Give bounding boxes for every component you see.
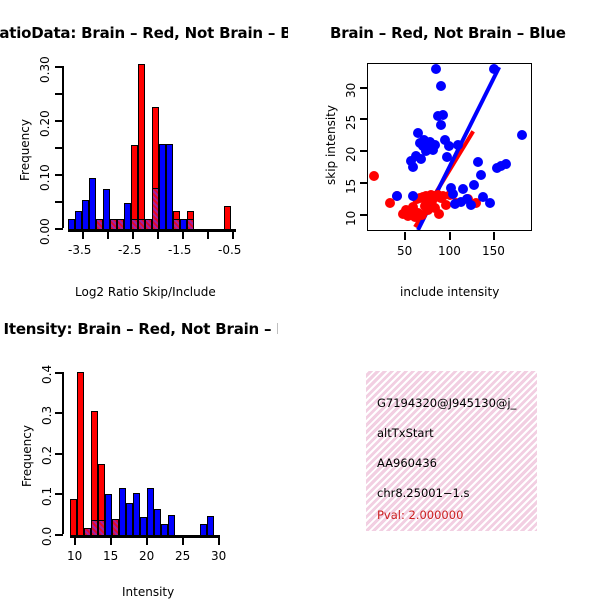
ratio-hist-x-tick--1.0	[207, 231, 209, 239]
info-line-accession: AA960436	[377, 456, 437, 470]
intensity-hist-ytick-label-0.4: 0.4	[40, 365, 54, 384]
ratio-hist-xtick-label--2.5: -2.5	[118, 243, 141, 257]
intensity-bar-purple-3	[98, 520, 105, 536]
intensity-bar-blue-2	[119, 488, 126, 536]
ratio-hist-x-tick--3.0	[107, 231, 109, 239]
intensity-hist-x-tick-25	[182, 537, 184, 545]
scatter-point-blue	[430, 140, 440, 150]
intensity-hist-ytick-label-0.3: 0.3	[40, 406, 54, 425]
ratio-bar-blue-2	[75, 211, 82, 230]
ratio-hist-xtick-label--0.5: -0.5	[218, 243, 241, 257]
intensity-hist-xtick-label-20: 20	[139, 549, 154, 563]
scatter-point-blue	[438, 110, 448, 120]
ratio-bar-blue-5	[103, 189, 110, 230]
ratio-hist-y-tick-0.10	[55, 174, 63, 176]
ratio-bar-purple-8	[152, 188, 159, 230]
intensity-hist-y-tick-0.1	[55, 493, 63, 495]
ratio-bar-red-2	[138, 64, 145, 230]
scatter-point-blue	[436, 81, 446, 91]
intensity-hist-xtick-label-25: 25	[175, 549, 190, 563]
ratio-hist-y-tick-0.25	[55, 93, 63, 95]
intensity-bar-red-3	[91, 411, 98, 536]
ratio-bar-blue-7	[159, 144, 166, 230]
scatter-point-blue	[476, 170, 486, 180]
scatter-y-tick-10	[360, 214, 368, 216]
scatter-x-tick-50	[404, 232, 406, 240]
info-line-locus: chr8.25001−1.s	[377, 486, 470, 500]
ratio-bar-blue-6	[124, 203, 131, 230]
ratio-bar-red-1	[131, 145, 138, 230]
intensity-hist-xtick-label-15: 15	[103, 549, 118, 563]
intensity-hist-y-axis-label: Frequency	[20, 425, 34, 487]
scatter-points-layer	[368, 64, 531, 230]
info-line-pval: Pval: 2.000000	[377, 508, 463, 522]
intensity-hist-x-tick-10	[74, 537, 76, 545]
intensity-bar-blue-4	[133, 493, 140, 536]
scatter-xtick-label-50: 50	[397, 244, 412, 258]
scatter-x-tick-150	[493, 232, 495, 240]
intensity-bar-blue-5	[140, 517, 147, 536]
scatter-point-blue	[466, 200, 476, 210]
scatter-ytick-label-15: 15	[344, 179, 358, 194]
info-line-event-type: altTxStart	[377, 426, 434, 440]
ratio-hist-y-tick-0.30	[55, 66, 63, 68]
scatter-point-blue	[501, 159, 511, 169]
intensity-bar-blue-6	[147, 488, 154, 536]
ratio-hist-ytick-label-0.00: 0.00	[38, 218, 52, 245]
ratio-bar-blue-8	[166, 144, 173, 230]
ratio-hist-xtick-label--1.5: -1.5	[168, 243, 191, 257]
intensity-hist-ytick-label-0.1: 0.1	[40, 487, 54, 506]
intensity-bar-purple-4	[112, 519, 119, 536]
scatter-y-axis-label: skip intensity	[324, 105, 338, 185]
scatter-point-blue	[392, 191, 402, 201]
ratio-hist-x-tick--3.5	[82, 231, 84, 239]
ratio-hist-ytick-label-0.10: 0.10	[38, 164, 52, 191]
intensity-hist-x-axis-label: Intensity	[122, 585, 174, 599]
scatter-point-blue	[436, 120, 446, 130]
intensity-hist-ytick-label-0.0: 0.0	[40, 527, 54, 546]
gene-info-box: G7194320@J945130@j_ altTxStart AA960436 …	[366, 371, 537, 531]
intensity-hist-y-tick-0.2	[55, 453, 63, 455]
scatter-y-tick-15	[360, 182, 368, 184]
intensity-hist-x-tick-15	[110, 537, 112, 545]
intensity-bar-red-1	[70, 499, 77, 536]
scatter-y-tick-30	[360, 87, 368, 89]
scatter-point-blue	[442, 152, 452, 162]
scatter-point-red	[434, 209, 444, 219]
intensity-hist-xtick-label-30: 30	[211, 549, 226, 563]
ratio-hist-x-tick--2.5	[132, 231, 134, 239]
intensity-histogram-title: ne Itensity: Brain – Red, Not Brain – B	[0, 320, 278, 338]
scatter-x-tick-100	[449, 232, 451, 240]
intensity-hist-x-tick-20	[146, 537, 148, 545]
scatter-ytick-label-25: 25	[344, 115, 358, 130]
ratio-hist-y-tick-0.20	[55, 120, 63, 122]
scatter-x-axis-label: include intensity	[400, 285, 499, 299]
ratio-hist-x-tick--0.5	[232, 231, 234, 239]
ratio-hist-y-tick-0.05	[55, 201, 63, 203]
intensity-hist-x-tick-30	[218, 537, 220, 545]
scatter-point-blue	[408, 162, 418, 172]
intensity-bar-blue-7	[154, 509, 161, 536]
ratio-hist-y-tick-0.15	[55, 147, 63, 149]
scatter-point-blue	[431, 64, 441, 74]
ratio-hist-y-axis-label: Frequency	[18, 119, 32, 181]
intensity-bar-blue-11	[207, 516, 214, 536]
ratio-hist-x-axis-label: Log2 Ratio Skip/Include	[75, 285, 216, 299]
intensity-hist-y-tick-0.3	[55, 412, 63, 414]
scatter-point-blue	[517, 130, 527, 140]
scatter-xtick-label-150: 150	[482, 244, 505, 258]
ratio-bar-blue-4	[89, 178, 96, 230]
intensity-hist-xtick-label-10: 10	[67, 549, 82, 563]
ratio-hist-x-tick--1.5	[182, 231, 184, 239]
intensity-hist-ytick-label-0.2: 0.2	[40, 446, 54, 465]
intensity-bar-red-2	[77, 372, 84, 536]
ratio-hist-ytick-label-0.20: 0.20	[38, 110, 52, 137]
scatter-point-blue	[485, 198, 495, 208]
ratio-bar-red-6	[224, 206, 231, 230]
scatter-point-blue	[489, 64, 499, 74]
scatter-point-blue	[453, 140, 463, 150]
scatter-xtick-label-100: 100	[438, 244, 461, 258]
intensity-bar-blue-1	[105, 494, 112, 536]
scatter-ytick-label-10: 10	[344, 211, 358, 226]
intensity-hist-y-tick-0.0	[55, 534, 63, 536]
intensity-bar-blue-9	[168, 515, 175, 536]
ratio-histogram-title: RatioData: Brain – Red, Not Brain – Blu	[0, 24, 288, 42]
ratio-hist-baseline	[68, 229, 236, 231]
ratio-hist-ytick-label-0.30: 0.30	[38, 56, 52, 83]
scatter-point-red	[369, 171, 379, 181]
intensity-bar-purple-2	[91, 520, 98, 536]
scatter-point-blue	[469, 180, 479, 190]
scatter-point-blue	[408, 191, 418, 201]
scatter-y-tick-20	[360, 150, 368, 152]
intensity-bar-blue-3	[126, 503, 133, 536]
scatter-point-blue	[473, 157, 483, 167]
intensity-hist-y-tick-0.4	[55, 372, 63, 374]
scatter-ytick-label-30: 30	[344, 83, 358, 98]
ratio-hist-xtick-label--3.5: -3.5	[68, 243, 91, 257]
scatter-ytick-label-20: 20	[344, 147, 358, 162]
intensity-hist-baseline	[70, 535, 220, 537]
ratio-hist-x-tick--2.0	[157, 231, 159, 239]
ratio-hist-y-tick-0.00	[55, 228, 63, 230]
ratio-bar-blue-3	[82, 200, 89, 230]
info-line-gene-id: G7194320@J945130@j_	[377, 396, 535, 410]
scatter-y-tick-25	[360, 118, 368, 120]
scatter-point-blue	[458, 184, 468, 194]
scatter-title: Brain – Red, Not Brain – Blue	[330, 24, 566, 42]
